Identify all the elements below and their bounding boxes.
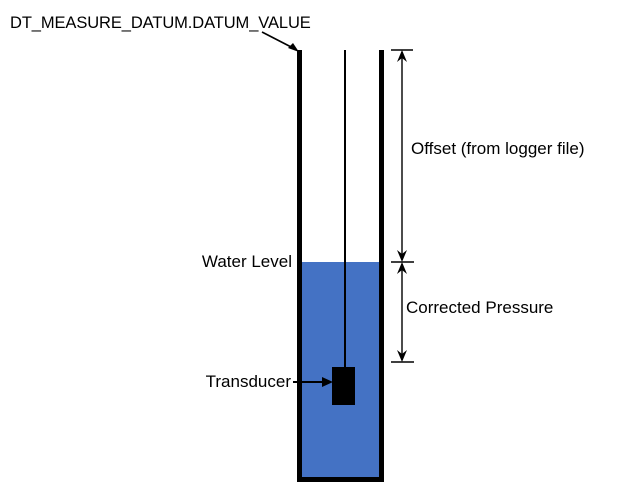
- corrected-pressure-label: Corrected Pressure: [406, 299, 553, 316]
- datum-value-label: DT_MEASURE_DATUM.DATUM_VALUE: [10, 15, 311, 32]
- well-bottom-wall: [297, 477, 384, 482]
- transducer-label: Transducer: [206, 373, 291, 390]
- water-level-label: Water Level: [202, 253, 292, 270]
- diagram-canvas: [0, 0, 618, 490]
- transducer-body: [332, 367, 355, 405]
- offset-dimension: [391, 50, 413, 262]
- well-left-wall: [297, 50, 302, 482]
- well-right-wall: [379, 50, 384, 482]
- transducer-cable: [344, 50, 346, 370]
- datum-callout-arrow: [262, 32, 299, 52]
- offset-label: Offset (from logger file): [411, 140, 585, 157]
- well-diagram: DT_MEASURE_DATUM.DATUM_VALUE Offset (fro…: [0, 0, 618, 490]
